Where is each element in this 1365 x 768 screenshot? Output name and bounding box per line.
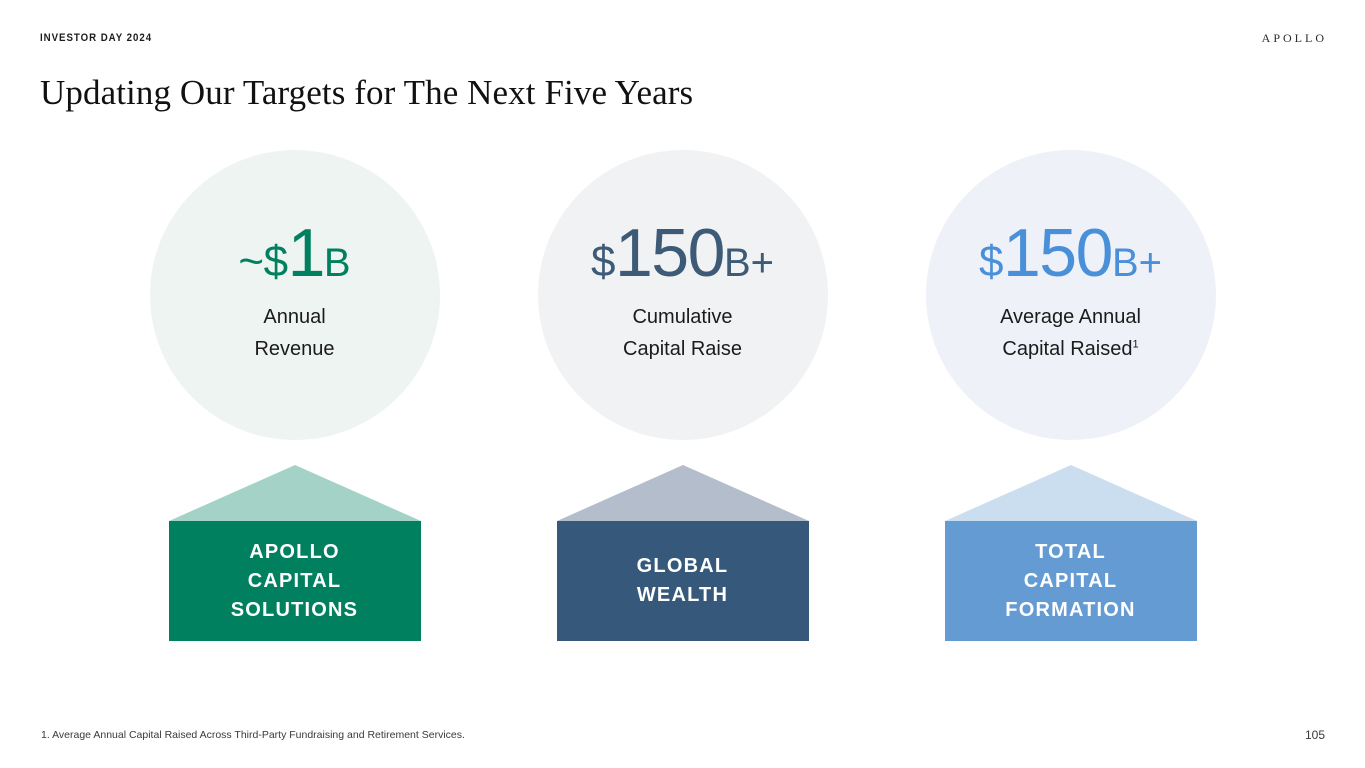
stat-value-group: ~$ 1 B	[238, 219, 350, 287]
stat-suffix: B	[324, 243, 351, 283]
stat-prefix: $	[979, 240, 1003, 284]
stat-value-group: $ 150 B+	[979, 219, 1162, 287]
column-total-capital-formation: $ 150 B+ Average Annual Capital Raised1 …	[921, 150, 1221, 641]
stat-label-line1: Cumulative	[623, 301, 742, 333]
stat-circle: $ 150 B+ Average Annual Capital Raised1	[926, 150, 1216, 440]
column-apollo-capital-solutions: ~$ 1 B Annual Revenue APOLLOCAPITALSOLUT…	[145, 150, 445, 641]
stat-label: Cumulative Capital Raise	[623, 301, 742, 365]
pillar-body: TOTALCAPITALFORMATION	[945, 521, 1197, 641]
stat-value-group: $ 150 B+	[591, 219, 774, 287]
pillar-roof-icon	[557, 465, 809, 521]
stat-number: 1	[288, 219, 324, 287]
columns-container: ~$ 1 B Annual Revenue APOLLOCAPITALSOLUT…	[0, 150, 1365, 670]
pillar-body: APOLLOCAPITALSOLUTIONS	[169, 521, 421, 641]
pillar-label: GLOBALWEALTH	[637, 552, 729, 610]
stat-suffix: B+	[724, 243, 774, 283]
stat-label-line2: Capital Raised1	[1000, 333, 1141, 365]
stat-label-line2: Capital Raise	[623, 333, 742, 365]
stat-number: 150	[1003, 219, 1112, 287]
page-number: 105	[1305, 728, 1325, 742]
stat-prefix: ~$	[238, 240, 287, 284]
apollo-logo: APOLLO	[1262, 31, 1327, 46]
pillar: APOLLOCAPITALSOLUTIONS	[169, 465, 421, 641]
stat-label-line1: Annual	[254, 301, 334, 333]
slide: INVESTOR DAY 2024 APOLLO Updating Our Ta…	[0, 0, 1365, 768]
pillar-roof-icon	[169, 465, 421, 521]
stat-label-line2: Revenue	[254, 333, 334, 365]
pillar: GLOBALWEALTH	[557, 465, 809, 641]
footnote-marker: 1	[1132, 338, 1138, 350]
stat-number: 150	[615, 219, 724, 287]
pillar: TOTALCAPITALFORMATION	[945, 465, 1197, 641]
footnote: 1. Average Annual Capital Raised Across …	[41, 729, 465, 741]
stat-label: Annual Revenue	[254, 301, 334, 365]
page-title: Updating Our Targets for The Next Five Y…	[40, 73, 693, 113]
stat-suffix: B+	[1112, 243, 1162, 283]
pillar-body: GLOBALWEALTH	[557, 521, 809, 641]
pillar-label: TOTALCAPITALFORMATION	[1005, 538, 1135, 625]
stat-label: Average Annual Capital Raised1	[1000, 301, 1141, 365]
eyebrow-label: INVESTOR DAY 2024	[40, 32, 152, 44]
pillar-roof-icon	[945, 465, 1197, 521]
stat-label-line1: Average Annual	[1000, 301, 1141, 333]
pillar-label: APOLLOCAPITALSOLUTIONS	[231, 538, 358, 625]
stat-circle: $ 150 B+ Cumulative Capital Raise	[538, 150, 828, 440]
stat-prefix: $	[591, 240, 615, 284]
column-global-wealth: $ 150 B+ Cumulative Capital Raise GLOBAL…	[533, 150, 833, 641]
stat-circle: ~$ 1 B Annual Revenue	[150, 150, 440, 440]
